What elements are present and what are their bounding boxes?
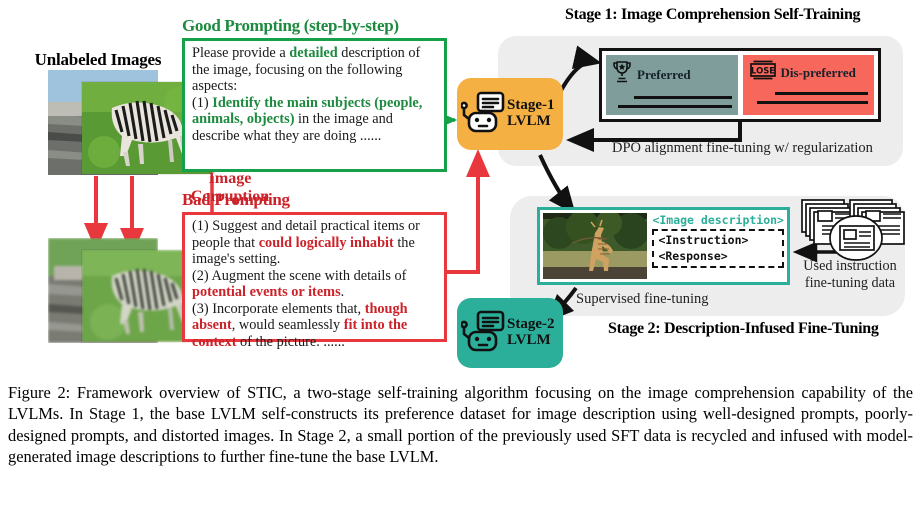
stage1-label-line2: LVLM [507, 113, 551, 129]
sft-sample-box: <Image description> <Instruction> <Respo… [537, 207, 790, 285]
good-prompt-box: Please provide a detailed description of… [182, 38, 447, 172]
sft-caption: Supervised fine-tuning [576, 291, 709, 308]
giraffe-image [543, 213, 647, 279]
bp-2a: (2) Augment the scene with details of [192, 268, 406, 284]
gp-2a: (1) [192, 95, 212, 111]
sft-tokens: <Image description> <Instruction> <Respo… [652, 213, 784, 279]
stage1-lvlm-node: Stage-1 LVLM [457, 78, 563, 150]
robot-icon [461, 308, 505, 359]
image-corruption-label: Image Corruption [170, 170, 290, 207]
dispreferred-text-line-2 [757, 101, 869, 104]
image-corruption-line2: Corruption [191, 188, 269, 205]
image-description-token: <Image description> [652, 213, 784, 227]
preferred-text-line-2 [618, 105, 732, 108]
bad-prompt-box: (1) Suggest and detail practical items o… [182, 212, 447, 342]
preferred-card: Preferred [606, 55, 738, 115]
bp-2em: potential events or items [192, 284, 341, 300]
robot-icon [461, 89, 505, 140]
used-data-line2: fine-tuning data [805, 275, 895, 291]
stage2-label-line2: LVLM [507, 332, 551, 348]
stage2-lvlm-label: Stage-2 LVLM [507, 317, 555, 349]
good-prompting-heading: Good Prompting (step-by-step) [182, 16, 399, 36]
good-prompt-text: Please provide a detailed description of… [192, 45, 437, 144]
used-data-line1: Used instruction [803, 258, 896, 274]
stage2-heading: Stage 2: Description-Infused Fine-Tuning [608, 320, 879, 338]
dispreferred-text-line-1 [775, 92, 869, 95]
dispreferred-label: Dis-preferred [781, 65, 856, 81]
bp-3c: of the picture. ...... [236, 334, 344, 350]
stage1-heading: Stage 1: Image Comprehension Self-Traini… [565, 6, 860, 24]
dispreferred-card: LOSE Dis-preferred [743, 55, 875, 115]
bp-2b: . [341, 284, 345, 300]
bp-3b: , would seamlessly [232, 317, 344, 333]
instruction-token: <Instruction> [658, 233, 778, 249]
stage2-lvlm-node: Stage-2 LVLM [457, 298, 563, 368]
image-corruption-line1: Image [209, 170, 252, 187]
gp-1em: detailed [289, 45, 337, 61]
used-data-caption: Used instruction fine-tuning data [786, 258, 914, 292]
dpo-caption: DPO alignment fine-tuning w/ regularizat… [612, 140, 873, 157]
bad-prompt-text: (1) Suggest and detail practical items o… [192, 218, 437, 351]
figure-caption: Figure 2: Framework overview of STIC, a … [8, 382, 913, 467]
trophy-icon [612, 60, 632, 89]
gp-1a: Please provide a [192, 45, 289, 61]
unlabeled-images-label: Unlabeled Images [18, 50, 178, 70]
preferred-label: Preferred [637, 67, 691, 83]
preference-pair-box: Preferred LOSE Dis-preferred [599, 48, 881, 122]
stage1-lvlm-label: Stage-1 LVLM [507, 98, 555, 130]
stage1-label-line1: Stage-1 [507, 97, 555, 113]
bp-3a: (3) Incorporate elements that, [192, 301, 365, 317]
svg-text:LOSE: LOSE [751, 66, 775, 76]
instruction-response-group: <Instruction> <Response> [652, 229, 784, 268]
figure-area: Unlabeled Images Good Prompting (step-by… [0, 0, 921, 380]
bp-1em: could logically inhabit [259, 235, 394, 251]
response-token: <Response> [658, 249, 778, 265]
stage2-label-line1: Stage-2 [507, 316, 555, 332]
lose-badge-icon: LOSE [749, 60, 777, 85]
preferred-text-line-1 [634, 96, 732, 99]
